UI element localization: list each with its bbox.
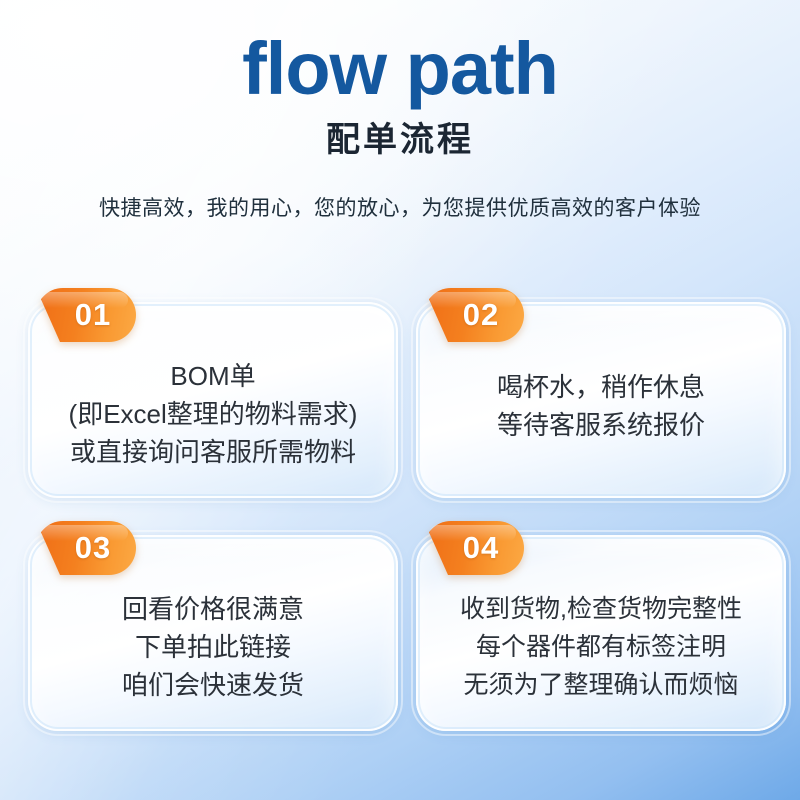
page-tagline: 快捷高效，我的用心，您的放心，为您提供优质高效的客户体验 (0, 194, 800, 224)
step-number-label: 04 (424, 521, 524, 575)
step-badge-02: 02 (424, 288, 524, 342)
step-text-line: 等待客服系统报价 (497, 406, 705, 444)
step-text-line: 回看价格很满意 (122, 590, 304, 628)
step-text-line: 每个器件都有标签注明 (476, 628, 726, 666)
step-text-line: (即Excel整理的物料需求) (69, 395, 358, 433)
poster-header: flow path 配单流程 快捷高效，我的用心，您的放心，为您提供优质高效的客… (0, 26, 800, 224)
step-number-label: 02 (424, 288, 524, 342)
page-title-english: flow path (0, 26, 800, 112)
step-badge-01: 01 (36, 288, 136, 342)
steps-grid: 01 BOM单 (即Excel整理的物料需求) 或直接询问客服所需物料 02 喝… (28, 302, 772, 731)
step-number-label: 01 (36, 288, 136, 342)
step-text-line: 咱们会快速发货 (122, 666, 304, 704)
step-text-line: 喝杯水，稍作休息 (497, 368, 705, 406)
step-card-03: 03 回看价格很满意 下单拍此链接 咱们会快速发货 (28, 535, 398, 731)
step-text-line: 收到货物,检查货物完整性 (460, 590, 742, 628)
step-badge-03: 03 (36, 521, 136, 575)
step-text-line: 无须为了整理确认而烦恼 (463, 666, 738, 704)
step-text-line: 或直接询问客服所需物料 (70, 433, 356, 471)
step-text-line: 下单拍此链接 (135, 628, 291, 666)
page-title-chinese: 配单流程 (0, 118, 800, 162)
step-card-01: 01 BOM单 (即Excel整理的物料需求) 或直接询问客服所需物料 (28, 302, 398, 498)
step-card-02: 02 喝杯水，稍作休息 等待客服系统报价 (416, 302, 786, 498)
step-card-04: 04 收到货物,检查货物完整性 每个器件都有标签注明 无须为了整理确认而烦恼 (416, 535, 786, 731)
step-text-line: BOM单 (170, 357, 255, 395)
step-badge-04: 04 (424, 521, 524, 575)
flow-path-poster: flow path 配单流程 快捷高效，我的用心，您的放心，为您提供优质高效的客… (0, 0, 800, 800)
step-number-label: 03 (36, 521, 136, 575)
